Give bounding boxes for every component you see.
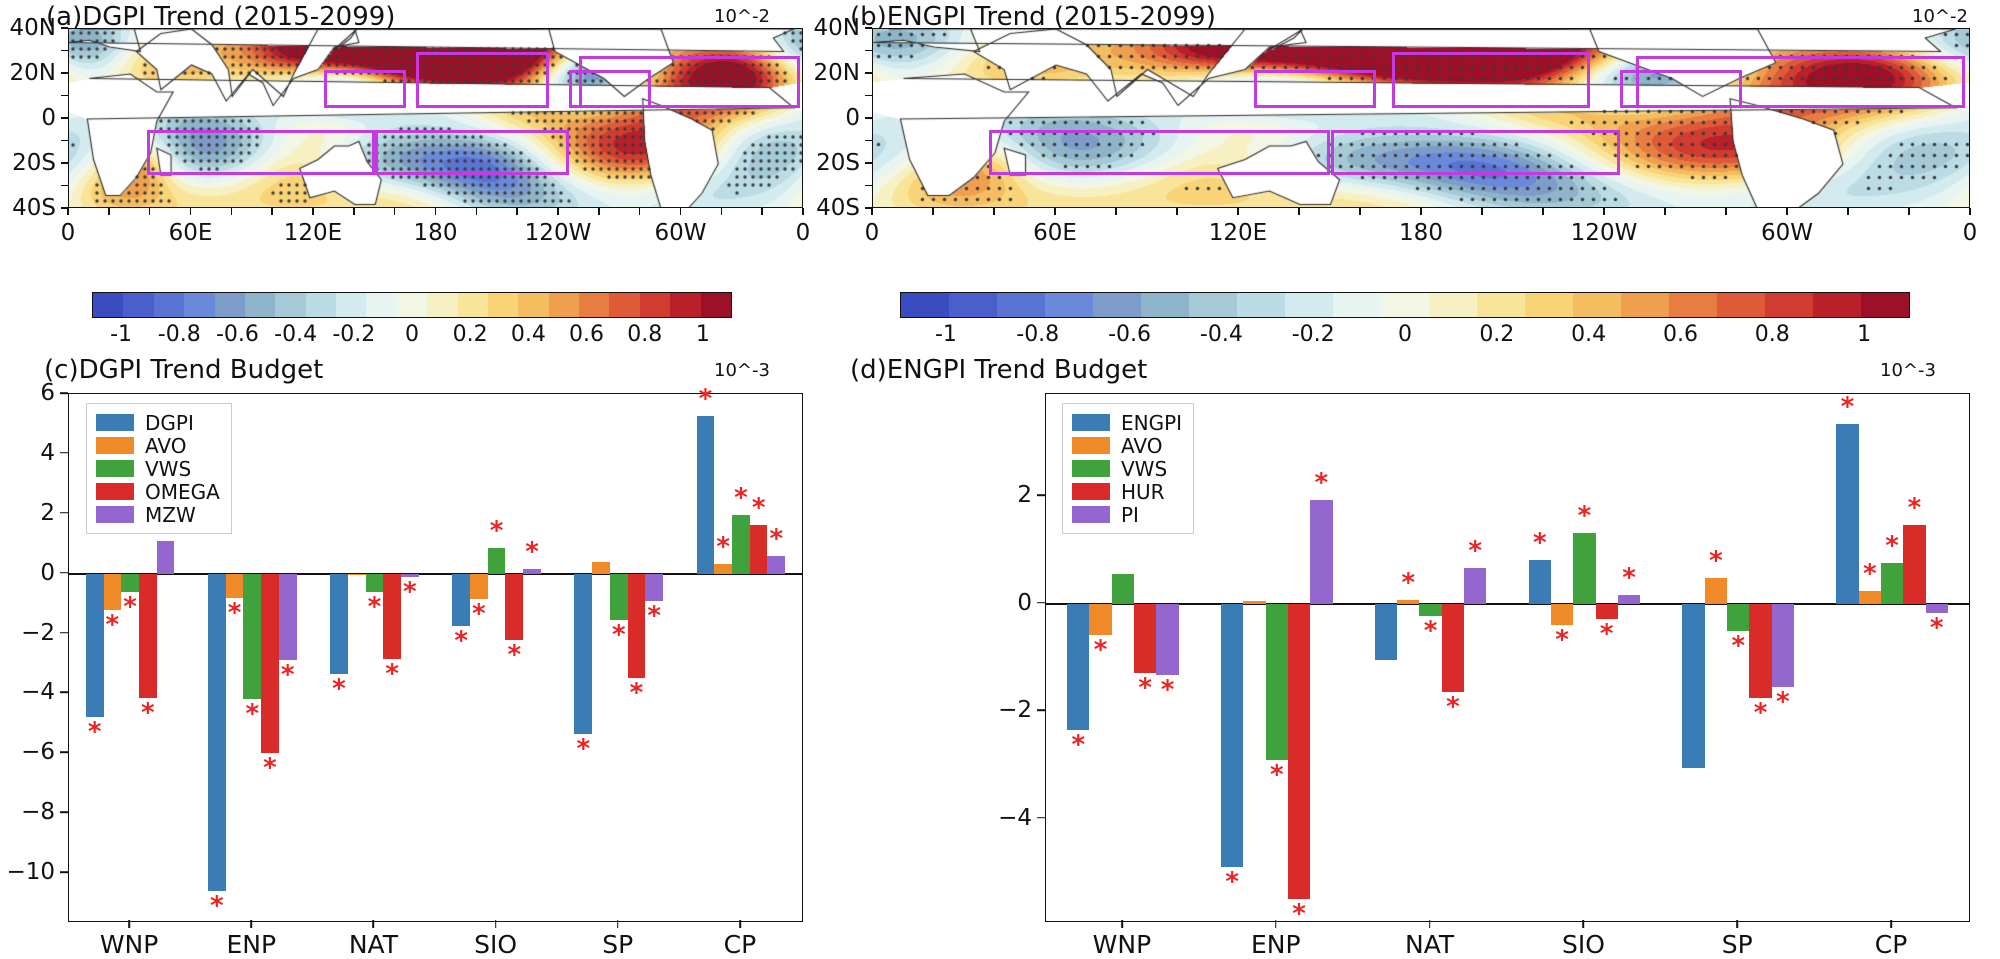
region-box-4 (989, 130, 1331, 175)
legend-label-PI: PI (1121, 503, 1139, 527)
map-y-label: 40N (10, 15, 56, 41)
panel-b-colorbar: -1-0.8-0.6-0.4-0.200.20.40.60.81 (900, 292, 1910, 318)
significance-star: * (525, 539, 539, 565)
bar-c-ENP-MZW (279, 574, 297, 661)
colorbar-cell (1861, 293, 1909, 317)
significance-star: * (228, 600, 242, 626)
map-y-tick-minor (61, 50, 68, 51)
colorbar-cell (997, 293, 1045, 317)
panel-d-exponent: 10^-3 (1880, 360, 1936, 381)
significance-star: * (1094, 637, 1108, 663)
map-x-tick (1542, 208, 1543, 215)
x-tick-mark (495, 920, 497, 928)
y-tick-mark (60, 811, 68, 813)
bar-c-ENP-DGPI (208, 574, 226, 891)
colorbar-tick-label: -0.4 (274, 322, 317, 347)
x-tick-mark (739, 920, 741, 928)
legend-row-OMEGA: OMEGA (96, 480, 220, 503)
colorbar-cell (336, 293, 366, 317)
y-tick-mark (60, 572, 68, 574)
colorbar-tick-label: 0 (1398, 322, 1412, 347)
region-box-5 (1331, 130, 1621, 175)
legend-swatch-OMEGA (96, 483, 134, 500)
region-box-1 (1392, 52, 1590, 108)
legend-row-VWS: VWS (96, 457, 220, 480)
map-x-label: 0 (796, 220, 811, 246)
bar-d-CP-PI (1926, 604, 1948, 613)
bar-d-NAT-HUR (1442, 604, 1464, 693)
colorbar-cell (1621, 293, 1669, 317)
map-y-tick-minor (61, 27, 68, 28)
map-x-tick (1664, 208, 1665, 215)
map-x-label: 60E (1033, 220, 1077, 246)
map-x-label: 120W (525, 220, 592, 246)
bar-c-CP-MZW (767, 556, 785, 573)
colorbar-cell (488, 293, 518, 317)
significance-star: * (1776, 689, 1790, 715)
significance-star: * (647, 603, 661, 629)
bar-d-ENP-AVO (1243, 601, 1265, 604)
map-y-tick-minor (865, 72, 872, 73)
significance-star: * (106, 612, 120, 638)
significance-star: * (332, 676, 346, 702)
significance-star: * (1600, 621, 1614, 647)
significance-star: * (1709, 548, 1723, 574)
map-y-tick-minor (865, 207, 872, 208)
x-tick-mark (250, 920, 252, 928)
map-x-tick (149, 208, 150, 215)
map-x-tick (680, 208, 681, 215)
panel-d-legend: ENGPIAVOVWSHURPI (1062, 403, 1194, 534)
map-x-tick (231, 208, 232, 215)
bar-c-SP-AVO (592, 562, 610, 574)
panel-d-title: (d)ENGPI Trend Budget (850, 355, 1147, 385)
bar-c-SP-MZW (645, 574, 663, 601)
map-x-tick (639, 208, 640, 215)
bar-c-SP-VWS (610, 574, 628, 620)
x-tick-mark (1429, 920, 1431, 928)
bar-c-CP-OMEGA (750, 525, 768, 574)
colorbar-cell (123, 293, 153, 317)
bar-d-SIO-AVO (1551, 604, 1573, 626)
legend-swatch-VWS (96, 460, 134, 477)
map-x-tick (802, 208, 803, 215)
x-tick-mark (1890, 920, 1892, 928)
bar-c-ENP-OMEGA (261, 574, 279, 754)
colorbar-cell (1429, 293, 1477, 317)
bar-d-ENP-ENGPI (1221, 604, 1243, 868)
region-box-5 (375, 130, 569, 175)
legend-swatch-HUR (1072, 483, 1110, 500)
colorbar-cell (366, 293, 396, 317)
x-tick-label: CP (724, 930, 757, 959)
bar-c-ENP-VWS (243, 574, 261, 700)
bar-d-CP-ENGPI (1836, 424, 1858, 604)
legend-row-PI: PI (1072, 503, 1182, 526)
legend-swatch-AVO (1072, 437, 1110, 454)
y-tick-mark (60, 512, 68, 514)
map-x-label: 60W (1761, 220, 1813, 246)
legend-row-DGPI: DGPI (96, 411, 220, 434)
significance-star: * (1930, 615, 1944, 641)
colorbar-tick-label: 1 (696, 322, 710, 347)
significance-star: * (630, 680, 644, 706)
map-x-tick (598, 208, 599, 215)
legend-row-AVO: AVO (1072, 434, 1182, 457)
legend-label-OMEGA: OMEGA (145, 480, 220, 504)
bar-d-SP-ENGPI (1682, 604, 1704, 768)
x-tick-label: CP (1875, 930, 1908, 959)
bar-d-SP-PI (1772, 604, 1794, 687)
map-x-label: 60W (654, 220, 706, 246)
legend-label-MZW: MZW (145, 503, 196, 527)
x-tick-mark (128, 920, 130, 928)
bar-d-WNP-VWS (1112, 574, 1134, 604)
map-x-tick (312, 208, 313, 215)
colorbar-tick-label: -1 (935, 322, 957, 347)
x-tick-label: WNP (1093, 930, 1152, 959)
colorbar-cell (306, 293, 336, 317)
colorbar-cell (901, 293, 949, 317)
significance-star: * (368, 594, 382, 620)
figure-root: (a)DGPI Trend (2015-2099) 10^-2 -1-0.8-0… (0, 0, 2000, 959)
significance-star: * (1578, 503, 1592, 529)
significance-star: * (263, 755, 277, 781)
colorbar-tick-label: 0.6 (569, 322, 604, 347)
map-x-tick (1237, 208, 1238, 215)
map-y-label: 20S (12, 150, 56, 176)
colorbar-cell (93, 293, 123, 317)
map-x-tick (993, 208, 994, 215)
map-x-tick (1176, 208, 1177, 215)
colorbar-tick-label: 0.8 (627, 322, 662, 347)
colorbar-cell (1813, 293, 1861, 317)
legend-swatch-AVO (96, 437, 134, 454)
colorbar-cell (949, 293, 997, 317)
panel-b-exponent: 10^-2 (1912, 6, 1968, 27)
map-x-tick (1298, 208, 1299, 215)
significance-star: * (716, 534, 730, 560)
map-x-tick (67, 208, 68, 215)
y-tick-mark (1037, 602, 1045, 604)
colorbar-tick-label: 0.4 (1571, 322, 1606, 347)
colorbar-tick-label: -0.8 (158, 322, 201, 347)
y-tick-mark (60, 752, 68, 754)
bar-c-WNP-AVO (104, 574, 122, 610)
colorbar-tick-label: -0.6 (216, 322, 259, 347)
bar-c-WNP-VWS (121, 574, 139, 592)
colorbar-cell (1765, 293, 1813, 317)
significance-star: * (245, 701, 259, 727)
significance-star: * (472, 601, 486, 627)
colorbar-cell (1573, 293, 1621, 317)
panel-b-map (872, 28, 1970, 208)
map-y-label: 20N (10, 60, 56, 86)
bar-c-NAT-DGPI (330, 574, 348, 674)
significance-star: * (1885, 533, 1899, 559)
bar-d-SP-AVO (1705, 578, 1727, 603)
colorbar-cell (1045, 293, 1093, 317)
bar-d-CP-AVO (1859, 591, 1881, 603)
bar-c-SP-OMEGA (628, 574, 646, 679)
bar-d-NAT-VWS (1419, 604, 1441, 616)
colorbar-tick-label: 0.4 (511, 322, 546, 347)
bar-d-NAT-ENGPI (1375, 604, 1397, 660)
colorbar-tick-label: -0.8 (1016, 322, 1059, 347)
bar-d-WNP-HUR (1134, 604, 1156, 673)
panel-a-exponent: 10^-2 (714, 6, 770, 27)
legend-swatch-DGPI (96, 414, 134, 431)
map-x-tick (476, 208, 477, 215)
x-tick-mark (1583, 920, 1585, 928)
bar-c-WNP-DGPI (86, 574, 104, 718)
colorbar-cell (1669, 293, 1717, 317)
x-tick-label: ENP (1251, 930, 1301, 959)
bar-d-SP-HUR (1749, 604, 1771, 698)
colorbar-cell (1477, 293, 1525, 317)
map-y-label: 40N (814, 15, 860, 41)
bar-c-CP-AVO (714, 564, 732, 574)
bar-d-NAT-AVO (1397, 600, 1419, 604)
zero-line (1046, 603, 1969, 605)
bar-c-SIO-OMEGA (505, 574, 523, 640)
x-tick-mark (1121, 920, 1123, 928)
bar-c-CP-VWS (732, 515, 750, 574)
colorbar-cell (1189, 293, 1237, 317)
colorbar-cell (154, 293, 184, 317)
map-y-tick-minor (61, 140, 68, 141)
map-x-tick (1847, 208, 1848, 215)
significance-star: * (770, 526, 784, 552)
map-x-tick (516, 208, 517, 215)
map-x-tick (435, 208, 436, 215)
map-y-tick-minor (865, 162, 872, 163)
region-box-0 (1254, 70, 1376, 108)
significance-star: * (1292, 901, 1306, 927)
map-x-label: 0 (1963, 220, 1978, 246)
legend-row-HUR: HUR (1072, 480, 1182, 503)
bar-c-WNP-OMEGA (139, 574, 157, 698)
map-x-tick (1786, 208, 1787, 215)
colorbar-tick-label: 0.2 (1479, 322, 1514, 347)
colorbar-cell (397, 293, 427, 317)
x-tick-label: SIO (1562, 930, 1605, 959)
colorbar-tick-label: 1 (1857, 322, 1871, 347)
map-x-label: 0 (865, 220, 880, 246)
significance-star: * (403, 579, 417, 605)
x-tick-mark (373, 920, 375, 928)
map-x-label: 120E (1209, 220, 1267, 246)
legend-row-VWS: VWS (1072, 457, 1182, 480)
significance-star: * (88, 719, 102, 745)
bar-c-CP-DGPI (697, 416, 715, 573)
bar-d-WNP-ENGPI (1067, 604, 1089, 730)
cbB-gradient (900, 292, 1910, 318)
bar-d-WNP-AVO (1089, 604, 1111, 635)
bar-d-ENP-PI (1310, 500, 1332, 604)
map-y-tick-minor (865, 140, 872, 141)
significance-star: * (1270, 762, 1284, 788)
colorbar-cell (701, 293, 731, 317)
colorbar-tick-label: -0.4 (1200, 322, 1243, 347)
significance-star: * (1468, 538, 1482, 564)
significance-star: * (1754, 700, 1768, 726)
colorbar-tick-label: -0.2 (332, 322, 375, 347)
colorbar-cell (579, 293, 609, 317)
colorbar-tick-label: 0.6 (1663, 322, 1698, 347)
map-x-tick (871, 208, 872, 215)
significance-star: * (1161, 677, 1175, 703)
map-x-tick (190, 208, 191, 215)
map-x-tick (271, 208, 272, 215)
significance-star: * (281, 662, 295, 688)
map-y-tick-minor (61, 95, 68, 96)
bar-d-SIO-VWS (1573, 533, 1595, 604)
legend-label-ENGPI: ENGPI (1121, 411, 1182, 435)
legend-row-ENGPI: ENGPI (1072, 411, 1182, 434)
map-y-label: 20N (814, 60, 860, 86)
bar-d-WNP-PI (1156, 604, 1178, 675)
significance-star: * (1841, 394, 1855, 420)
x-tick-mark (617, 920, 619, 928)
map-y-label: 20S (816, 150, 860, 176)
colorbar-cell (275, 293, 305, 317)
colorbar-cell (518, 293, 548, 317)
map-x-tick (1359, 208, 1360, 215)
map-y-tick-minor (865, 27, 872, 28)
significance-star: * (1863, 561, 1877, 587)
significance-star: * (1071, 732, 1085, 758)
significance-star: * (490, 518, 504, 544)
legend-label-VWS: VWS (145, 457, 191, 481)
panel-c-legend: DGPIAVOVWSOMEGAMZW (86, 403, 232, 534)
significance-star: * (612, 622, 626, 648)
map-y-tick-minor (61, 185, 68, 186)
x-tick-label: SIO (474, 930, 517, 959)
y-tick-label: −10 (6, 859, 66, 885)
colorbar-cell (640, 293, 670, 317)
bar-d-SIO-ENGPI (1529, 560, 1551, 604)
y-tick-mark (60, 632, 68, 634)
legend-label-AVO: AVO (1121, 434, 1162, 458)
map-y-tick-minor (865, 95, 872, 96)
map-x-tick (353, 208, 354, 215)
colorbar-cell (1093, 293, 1141, 317)
bar-c-WNP-MZW (157, 541, 175, 574)
significance-star: * (507, 642, 521, 668)
map-x-tick (1420, 208, 1421, 215)
map-x-tick (557, 208, 558, 215)
map-x-tick (1481, 208, 1482, 215)
colorbar-cell (1381, 293, 1429, 317)
map-x-label: 180 (414, 220, 458, 246)
zero-line (69, 573, 802, 575)
map-x-label: 120E (284, 220, 342, 246)
bar-d-SIO-PI (1618, 595, 1640, 604)
map-x-label: 0 (61, 220, 76, 246)
map-y-tick-minor (61, 207, 68, 208)
bar-c-SP-DGPI (574, 574, 592, 734)
legend-swatch-MZW (96, 506, 134, 523)
y-tick-mark (1037, 817, 1045, 819)
colorbar-cell (427, 293, 457, 317)
bar-c-NAT-VWS (366, 574, 384, 592)
y-tick-mark (60, 871, 68, 873)
bar-c-NAT-AVO (348, 574, 366, 575)
panel-a-map (68, 28, 803, 208)
legend-row-MZW: MZW (96, 503, 220, 526)
map-y-tick-minor (61, 162, 68, 163)
colorbar-cell (670, 293, 700, 317)
x-tick-label: SP (602, 930, 633, 959)
map-x-tick (932, 208, 933, 215)
significance-star: * (210, 893, 224, 919)
colorbar-cell (1525, 293, 1573, 317)
panel-c-title: (c)DGPI Trend Budget (44, 355, 323, 385)
bar-c-ENP-AVO (226, 574, 244, 598)
map-x-tick (721, 208, 722, 215)
map-x-tick (394, 208, 395, 215)
significance-star: * (1424, 618, 1438, 644)
colorbar-tick-label: -1 (110, 322, 132, 347)
legend-row-AVO: AVO (96, 434, 220, 457)
map-y-tick-minor (865, 117, 872, 118)
significance-star: * (734, 485, 748, 511)
colorbar-cell (1717, 293, 1765, 317)
map-y-label: 0 (845, 105, 860, 131)
x-tick-label: NAT (1405, 930, 1454, 959)
colorbar-tick-label: -0.6 (1108, 322, 1151, 347)
panel-a-colorbar: -1-0.8-0.6-0.4-0.200.20.40.60.81 (92, 292, 732, 318)
x-tick-mark (1736, 920, 1738, 928)
bar-c-SIO-DGPI (452, 574, 470, 626)
colorbar-cell (1333, 293, 1381, 317)
map-y-tick-minor (61, 72, 68, 73)
map-x-label: 120W (1571, 220, 1638, 246)
map-y-label: 0 (41, 105, 56, 131)
significance-star: * (1225, 869, 1239, 895)
bar-c-SIO-AVO (470, 574, 488, 599)
map-x-tick (1603, 208, 1604, 215)
map-x-tick (1054, 208, 1055, 215)
significance-star: * (699, 386, 713, 412)
map-y-label: 40S (816, 195, 860, 221)
map-y-tick-minor (61, 117, 68, 118)
legend-label-VWS: VWS (1121, 457, 1167, 481)
map-x-tick (108, 208, 109, 215)
region-box-4 (147, 130, 376, 175)
significance-star: * (1908, 495, 1922, 521)
bar-c-SIO-VWS (488, 548, 506, 574)
legend-label-AVO: AVO (145, 434, 186, 458)
y-tick-mark (60, 392, 68, 394)
colorbar-cell (1285, 293, 1333, 317)
colorbar-cell (609, 293, 639, 317)
y-tick-mark (60, 692, 68, 694)
significance-star: * (1555, 627, 1569, 653)
x-tick-label: NAT (349, 930, 398, 959)
y-tick-mark (60, 452, 68, 454)
region-box-0 (324, 70, 406, 108)
map-x-tick (1969, 208, 1970, 215)
significance-star: * (1446, 694, 1460, 720)
map-x-tick (1115, 208, 1116, 215)
bar-d-CP-VWS (1881, 563, 1903, 603)
region-box-3 (1636, 56, 1965, 108)
colorbar-cell (1141, 293, 1189, 317)
legend-swatch-VWS (1072, 460, 1110, 477)
colorbar-cell (1237, 293, 1285, 317)
